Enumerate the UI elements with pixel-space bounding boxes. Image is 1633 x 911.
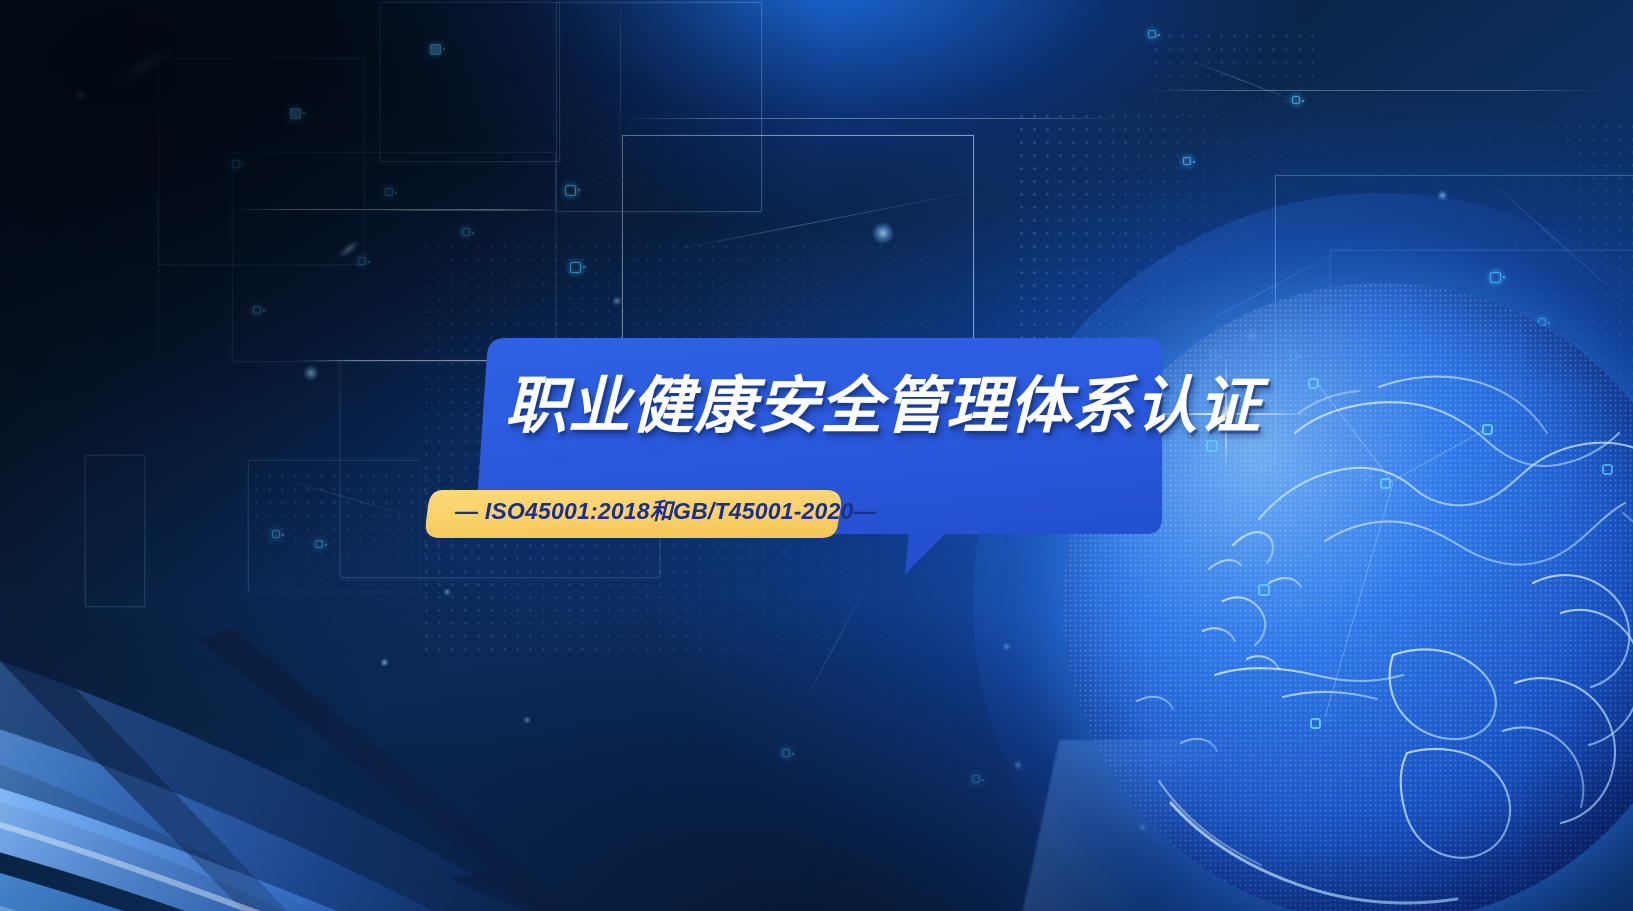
curved-light-arc-bands [0, 311, 1130, 911]
globe-node-markers [1207, 379, 1612, 728]
arc-band-sliver [1021, 740, 1359, 911]
lens-flare-starburst [1203, 391, 1249, 437]
presentation-slide: 职业健康安全管理体系认证 — ISO45001:2018和GB/T45001-2… [0, 0, 1633, 911]
